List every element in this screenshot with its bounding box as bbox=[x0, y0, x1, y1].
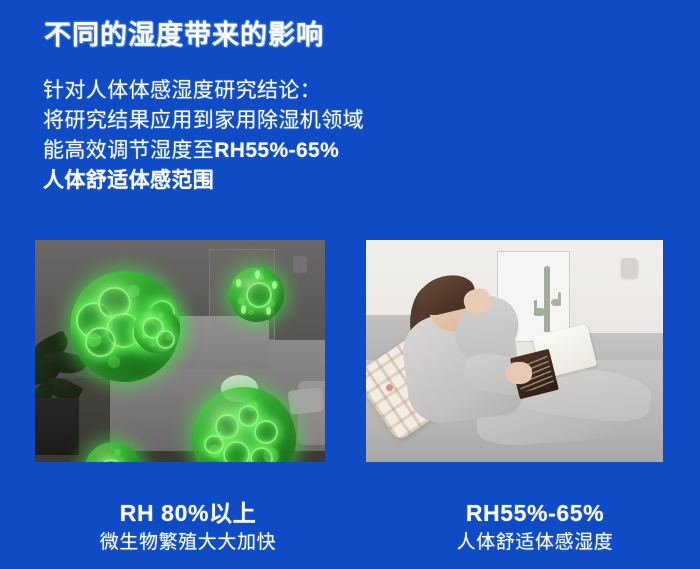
bacteria-blob bbox=[99, 459, 123, 462]
caption-high-humidity: RH 80%以上 微生物繁殖大大加快 bbox=[8, 499, 368, 556]
page-title: 不同的湿度带来的影响 bbox=[44, 19, 324, 53]
caption-comfort-humidity: RH55%-65% 人体舒适体感湿度 bbox=[355, 499, 700, 556]
woman-hand-holding-book bbox=[506, 362, 533, 384]
photo-high-humidity bbox=[35, 240, 325, 462]
germ-orb-mid bbox=[134, 307, 180, 354]
bacteria-blob bbox=[246, 282, 272, 308]
cactus-arm-left bbox=[534, 308, 545, 316]
germ-spike bbox=[236, 279, 241, 287]
plant-pot-dark bbox=[35, 398, 79, 456]
bacteria-blob bbox=[204, 435, 224, 455]
caption-high-humidity-sub: 微生物繁殖大大加快 bbox=[8, 530, 368, 556]
body-line-3-highlight: RH55%-65% bbox=[214, 139, 339, 162]
germ-spike bbox=[266, 307, 271, 315]
caption-comfort-humidity-main: RH55%-65% bbox=[355, 499, 700, 527]
bacteria-blob bbox=[223, 441, 250, 462]
bacteria-blob bbox=[76, 302, 113, 339]
humidity-infographic-slide: 不同的湿度带来的影响 针对人体体感湿度研究结论： 将研究结果应用到家用除湿机领域… bbox=[0, 0, 700, 569]
photo-comfortable-humidity-scene bbox=[366, 240, 663, 462]
caption-high-humidity-main: RH 80%以上 bbox=[8, 499, 368, 527]
body-line-1: 针对人体体感湿度研究结论： bbox=[43, 76, 364, 106]
germ-spike bbox=[241, 305, 246, 313]
body-copy: 针对人体体感湿度研究结论： 将研究结果应用到家用除湿机领域 能高效调节湿度至RH… bbox=[43, 76, 364, 196]
bacteria-blob bbox=[238, 405, 260, 427]
caption-comfort-humidity-sub: 人体舒适体感湿度 bbox=[355, 530, 700, 556]
body-line-2: 将研究结果应用到家用除湿机领域 bbox=[43, 106, 364, 136]
sofa-cushion-dark bbox=[288, 387, 325, 415]
cactus-illustration bbox=[533, 266, 562, 332]
wall-thermostat-light bbox=[621, 258, 638, 278]
bacteria-blob bbox=[156, 330, 175, 349]
bacteria-blob bbox=[98, 287, 131, 320]
germ-orb-small-top bbox=[229, 267, 284, 323]
bacteria-blob bbox=[142, 317, 164, 339]
wall-thermostat-dark bbox=[293, 256, 307, 273]
germ-spike bbox=[255, 270, 260, 279]
bacteria-blob bbox=[254, 420, 278, 444]
cactus-arm-right bbox=[551, 299, 561, 306]
germ-spike bbox=[272, 281, 277, 289]
body-line-4: 人体舒适体感范围 bbox=[43, 166, 364, 196]
bacteria-blob bbox=[85, 327, 115, 358]
body-line-3-normal: 能高效调节湿度至 bbox=[43, 139, 214, 162]
body-line-3: 能高效调节湿度至RH55%-65% bbox=[43, 136, 364, 166]
bacteria-blob bbox=[250, 447, 273, 462]
cactus-stem bbox=[544, 266, 550, 332]
bacteria-blob bbox=[215, 414, 240, 439]
photo-high-humidity-scene bbox=[35, 240, 325, 462]
photo-comfortable-humidity bbox=[366, 240, 663, 462]
